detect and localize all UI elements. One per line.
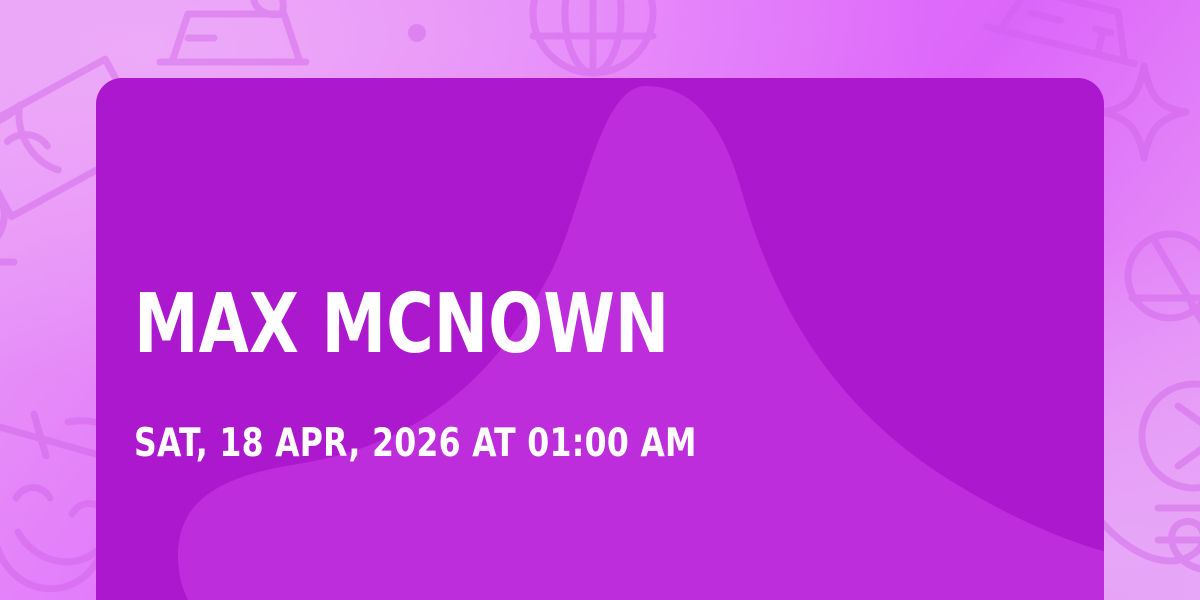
sparkle-icon [1096, 60, 1192, 164]
stage-stand-icon [158, 0, 308, 86]
dot-icon [404, 20, 430, 46]
play-circle-icon [1134, 376, 1200, 496]
bar-left-icon [0, 250, 54, 310]
event-card-text: MAX MCNOWN SAT, 18 APR, 2026 AT 01:00 AM [134, 78, 754, 600]
bar-right-icon [1150, 500, 1200, 570]
event-card: MAX MCNOWN SAT, 18 APR, 2026 AT 01:00 AM [96, 78, 1104, 600]
event-title: MAX MCNOWN [134, 282, 669, 368]
event-banner: MAX MCNOWN SAT, 18 APR, 2026 AT 01:00 AM [0, 0, 1200, 600]
microphone-icon [1118, 222, 1200, 372]
globe-icon [528, 0, 658, 78]
event-datetime: SAT, 18 APR, 2026 AT 01:00 AM [134, 422, 697, 466]
